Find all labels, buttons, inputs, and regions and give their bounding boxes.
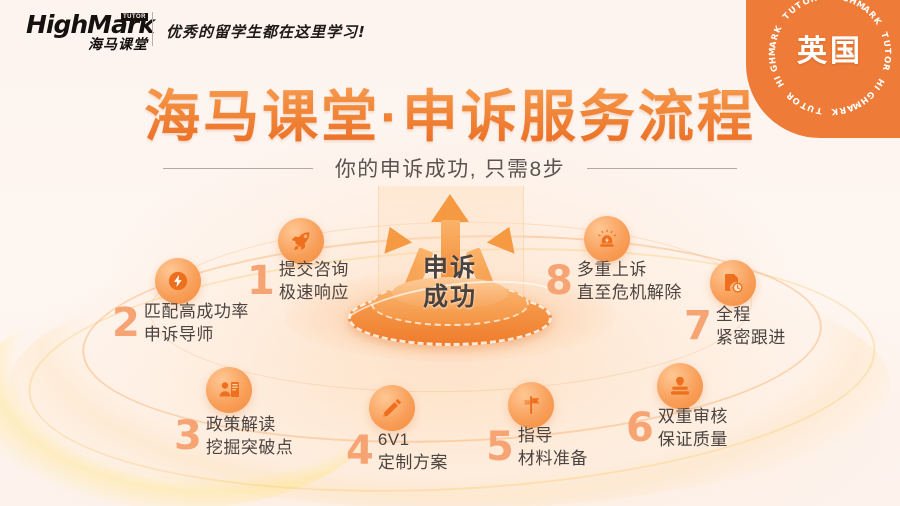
step-2-line2: 申诉导师: [144, 323, 249, 346]
person-document-icon: [206, 367, 252, 413]
step-5-text: 指导 材料准备: [518, 424, 588, 470]
infographic-poster: HighMark TUTOR 海马课堂 优秀的留学生都在这里学习! HIGHMA…: [0, 0, 900, 506]
step-6-number: 6: [626, 409, 654, 447]
step-5-body: 5 指导 材料准备: [486, 424, 588, 470]
logo-superscript: TUTOR: [121, 13, 148, 21]
center-label-line1: 申诉: [330, 254, 570, 283]
step-2-text: 匹配高成功率 申诉导师: [144, 300, 249, 346]
step-3-line2: 挖掘突破点: [206, 436, 294, 459]
step-6-line1: 双重审核: [658, 405, 728, 428]
header-tagline: 优秀的留学生都在这里学习!: [166, 21, 366, 42]
center-label-line2: 成功: [330, 283, 570, 312]
step-1-text: 提交咨询 极速响应: [279, 258, 349, 304]
step-2-body: 2 匹配高成功率 申诉导师: [112, 300, 249, 346]
step-3-body: 3 政策解读 挖掘突破点: [174, 413, 293, 459]
document-clock-icon: [710, 260, 756, 306]
alarm-icon: [584, 216, 630, 262]
step-8-number: 8: [545, 262, 573, 300]
signpost-icon: [508, 382, 554, 428]
subtitle-rule-left: [163, 168, 313, 169]
step-8-line2: 直至危机解除: [577, 281, 682, 304]
step-7-number: 7: [684, 307, 712, 345]
stamp-icon: [657, 363, 703, 409]
step-2-number: 2: [112, 304, 140, 342]
step-6-line2: 保证质量: [658, 428, 728, 451]
pen-icon: [369, 385, 415, 431]
step-3-line1: 政策解读: [206, 413, 294, 436]
step-1-body: 1 提交咨询 极速响应: [247, 258, 349, 304]
step-8-line1: 多重上诉: [577, 258, 682, 281]
arrow-center-head: [431, 194, 469, 222]
step-7-body: 7 全程 紧密跟进: [684, 303, 786, 349]
step-5-line1: 指导: [518, 424, 588, 447]
step-7-line2: 紧密跟进: [716, 326, 786, 349]
step-7-line1: 全程: [716, 303, 786, 326]
step-7-text: 全程 紧密跟进: [716, 303, 786, 349]
step-5-number: 5: [486, 428, 514, 466]
step-2-line1: 匹配高成功率: [144, 300, 249, 323]
center-graphic: 申诉 成功: [330, 186, 570, 361]
brand-logo: HighMark TUTOR 海马课堂: [26, 12, 146, 52]
step-8-text: 多重上诉 直至危机解除: [577, 258, 682, 304]
lightning-icon: [155, 258, 201, 304]
step-3-text: 政策解读 挖掘突破点: [206, 413, 294, 459]
step-8-body: 8 多重上诉 直至危机解除: [545, 258, 682, 304]
step-5-line2: 材料准备: [518, 447, 588, 470]
step-4-number: 4: [346, 432, 374, 470]
center-success-label: 申诉 成功: [330, 254, 570, 312]
step-1-number: 1: [247, 262, 275, 300]
page-subtitle: 你的申诉成功, 只需8步: [335, 153, 565, 183]
header-divider: [152, 12, 153, 46]
step-4-text: 6V1 定制方案: [378, 428, 448, 474]
step-4-line1: 6V1: [378, 428, 448, 451]
step-1-line2: 极速响应: [279, 281, 349, 304]
step-6-text: 双重审核 保证质量: [658, 405, 728, 451]
step-3-number: 3: [174, 417, 202, 455]
logo-chinese-name: 海马课堂: [88, 34, 148, 54]
step-4-line2: 定制方案: [378, 451, 448, 474]
step-1-line1: 提交咨询: [279, 258, 349, 281]
step-4-body: 4 6V1 定制方案: [346, 428, 448, 474]
subtitle-rule-right: [587, 168, 737, 169]
subtitle-row: 你的申诉成功, 只需8步: [0, 152, 900, 184]
page-title: 海马课堂·申诉服务流程: [0, 72, 900, 153]
step-6-body: 6 双重审核 保证质量: [626, 405, 728, 451]
badge-country-label: 英国: [746, 26, 900, 70]
